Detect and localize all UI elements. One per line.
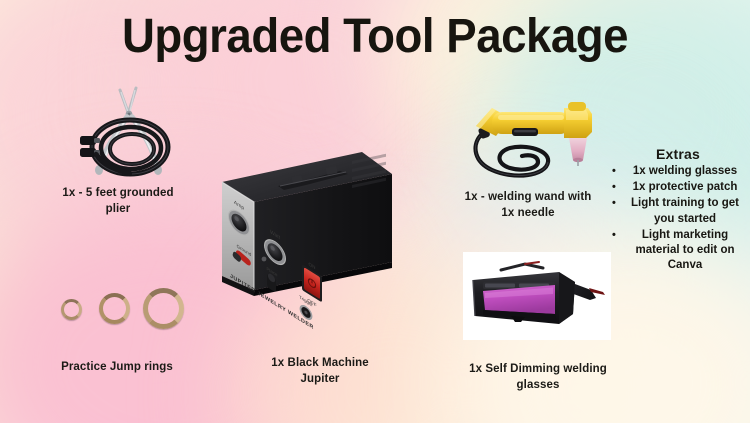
- bullet-icon: •: [612, 196, 616, 211]
- bullet-icon: •: [612, 164, 616, 179]
- welding-glasses-image: [463, 252, 611, 340]
- grounded-plier-caption-line2: plier: [18, 202, 218, 218]
- welding-wand-caption: 1x - welding wand with 1x needle: [448, 190, 608, 221]
- extras-item-label: 1x protective patch: [633, 181, 738, 193]
- grounded-plier-caption-line1: 1x - 5 feet grounded: [18, 186, 218, 202]
- jump-rings-image: [55, 285, 180, 327]
- welding-glasses-caption-line2: glasses: [448, 378, 628, 394]
- extras-list: • 1x welding glasses • 1x protective pat…: [608, 164, 748, 273]
- welding-machine-image: Amp Watt ON OFF: [206, 140, 398, 330]
- page-title: Upgraded Tool Package: [19, 12, 732, 62]
- extras-list-item: • 1x welding glasses: [624, 164, 746, 179]
- grounded-plier-image: [58, 84, 193, 184]
- welding-wand-image: [452, 100, 612, 192]
- welding-glasses-caption-line1: 1x Self Dimming welding: [448, 362, 628, 378]
- welding-wand-caption-line1: 1x - welding wand with: [448, 190, 608, 206]
- welding-machine-caption-line1: 1x Black Machine: [230, 356, 410, 372]
- extras-item-label: Light marketing material to edit on Canv…: [635, 229, 734, 271]
- grounded-plier-caption: 1x - 5 feet grounded plier: [18, 186, 218, 217]
- bullet-icon: •: [612, 228, 616, 243]
- bullet-icon: •: [612, 180, 616, 195]
- jump-rings-caption: Practice Jump rings: [17, 360, 217, 376]
- tool-package-poster: Upgraded Tool Package: [0, 0, 750, 423]
- extras-block: Extras • 1x welding glasses • 1x protect…: [608, 146, 748, 274]
- extras-item-label: 1x welding glasses: [633, 165, 737, 177]
- jump-ring-large: [143, 288, 184, 329]
- welding-machine-caption: 1x Black Machine Jupiter: [230, 356, 410, 387]
- jump-ring-medium: [99, 293, 130, 324]
- welding-wand-caption-line2: 1x needle: [448, 206, 608, 222]
- extras-list-item: • 1x protective patch: [624, 180, 746, 195]
- extras-list-item: • Light marketing material to edit on Ca…: [624, 228, 746, 274]
- jump-ring-small: [61, 299, 82, 320]
- welding-glasses-caption: 1x Self Dimming welding glasses: [448, 362, 628, 393]
- extras-item-label: Light training to get you started: [631, 197, 739, 224]
- extras-list-item: • Light training to get you started: [624, 196, 746, 226]
- welding-machine-caption-line2: Jupiter: [230, 372, 410, 388]
- extras-heading: Extras: [608, 146, 748, 162]
